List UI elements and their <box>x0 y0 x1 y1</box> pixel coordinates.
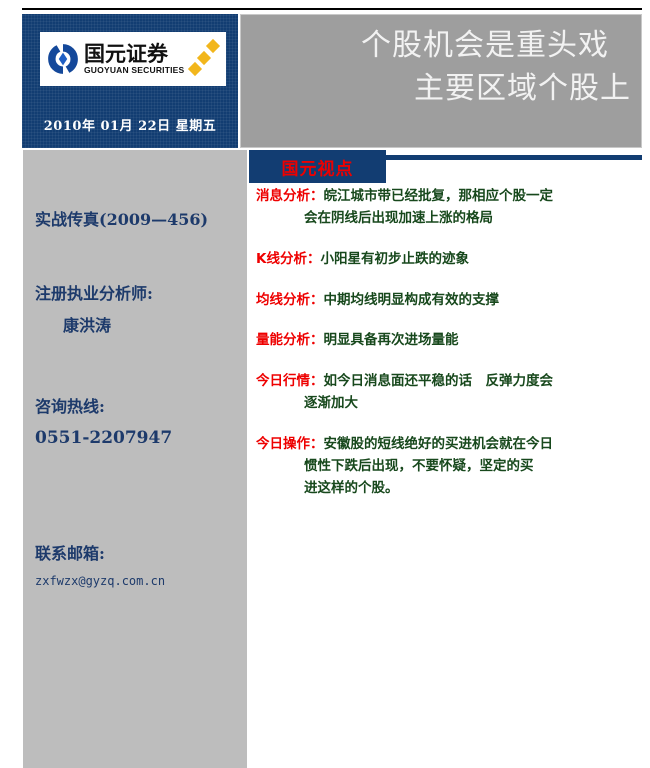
analysis-item-line: 今日操作：安徽股的短线绝好的买进机会就在今日 <box>256 434 646 456</box>
analysis-item-text: 如今日消息面还平稳的话 反弹力度会 <box>324 373 554 389</box>
sidebar-email-value[interactable]: zxfwzx@gyzq.com.cn <box>23 574 247 588</box>
analysis-item-label: 消息分析： <box>256 188 324 204</box>
page-title-line1: 个股机会是重头戏 <box>241 25 631 68</box>
top-divider <box>22 8 642 10</box>
header-brand-panel: 国元证券 GUOYUAN SECURITIES 2010年 01月 22日 星期… <box>22 14 240 148</box>
analysis-item-label: 量能分析： <box>256 332 324 348</box>
viewpoint-divider <box>386 155 642 160</box>
sidebar: 实战传真(2009—456) 注册执业分析师: 康洪涛 咨询热线: 0551-2… <box>23 150 247 768</box>
analysis-item-label: K线分析： <box>256 251 320 267</box>
guoyuan-circle-arrow-icon <box>46 42 80 76</box>
analysis-item-line: 均线分析：中期均线明显构成有效的支撑 <box>256 290 646 312</box>
analysis-item-line: 惯性下跌后出现，不要怀疑，坚定的买 <box>256 456 646 478</box>
analysis-item-line: 消息分析：皖江城市带已经批复，那相应个股一定 <box>256 186 646 208</box>
analysis-item-text: 逐渐加大 <box>304 395 358 411</box>
viewpoint-title: 国元视点 <box>249 154 386 179</box>
analysis-item-label: 均线分析： <box>256 292 324 308</box>
page-title: 个股机会是重头戏 主要区域个股上 <box>241 25 631 110</box>
sidebar-analyst-label: 注册执业分析师: <box>23 280 247 304</box>
sidebar-fax-number: 实战传真(2009—456) <box>23 206 247 230</box>
analysis-item-text: 安徽股的短线绝好的买进机会就在今日 <box>324 436 554 452</box>
analysis-item-text: 惯性下跌后出现，不要怀疑，坚定的买 <box>304 458 534 474</box>
page-title-line2: 主要区域个股上 <box>241 68 631 111</box>
analysis-item: K线分析：小阳星有初步止跌的迹象 <box>256 249 646 271</box>
analysis-item-text: 会在阴线后出现加速上涨的格局 <box>304 210 493 226</box>
analysis-item: 消息分析：皖江城市带已经批复，那相应个股一定会在阴线后出现加速上涨的格局 <box>256 186 646 230</box>
logo-name-cn: 国元证券 <box>84 43 190 65</box>
analysis-item-line: 今日行情：如今日消息面还平稳的话 反弹力度会 <box>256 371 646 393</box>
publication-date: 2010年 01月 22日 星期五 <box>22 115 238 134</box>
analysis-item-line: 逐渐加大 <box>256 393 646 415</box>
analysis-list: 消息分析：皖江城市带已经批复，那相应个股一定会在阴线后出现加速上涨的格局K线分析… <box>256 186 646 519</box>
analysis-item-text: 中期均线明显构成有效的支撑 <box>324 292 500 308</box>
analysis-item-text: 进这样的个股。 <box>304 480 399 496</box>
analysis-item-label: 今日行情： <box>256 373 324 389</box>
sidebar-hotline-value: 0551-2207947 <box>23 428 247 448</box>
analysis-item-label: 今日操作： <box>256 436 324 452</box>
analysis-item-text: 小阳星有初步止跌的迹象 <box>320 251 469 267</box>
company-logo: 国元证券 GUOYUAN SECURITIES <box>40 32 226 86</box>
analysis-item-line: 会在阴线后出现加速上涨的格局 <box>256 208 646 230</box>
analysis-item-line: 量能分析：明显具备再次进场量能 <box>256 330 646 352</box>
analysis-item: 今日操作：安徽股的短线绝好的买进机会就在今日惯性下跌后出现，不要怀疑，坚定的买进… <box>256 434 646 500</box>
analysis-item-text: 明显具备再次进场量能 <box>324 332 459 348</box>
header-title-panel: 个股机会是重头戏 主要区域个股上 <box>240 14 642 148</box>
analysis-item-line: K线分析：小阳星有初步止跌的迹象 <box>256 249 646 271</box>
viewpoint-header-box: 国元视点 <box>249 150 386 183</box>
ascending-steps-icon <box>190 38 220 80</box>
sidebar-analyst-name: 康洪涛 <box>23 312 247 336</box>
logo-name-en: GUOYUAN SECURITIES <box>84 66 190 75</box>
analysis-item-text: 皖江城市带已经批复，那相应个股一定 <box>324 188 554 204</box>
sidebar-email-label: 联系邮箱: <box>23 540 247 564</box>
analysis-item-line: 进这样的个股。 <box>256 478 646 500</box>
analysis-item: 今日行情：如今日消息面还平稳的话 反弹力度会逐渐加大 <box>256 371 646 415</box>
analysis-item: 量能分析：明显具备再次进场量能 <box>256 330 646 352</box>
analysis-item: 均线分析：中期均线明显构成有效的支撑 <box>256 290 646 312</box>
sidebar-hotline-label: 咨询热线: <box>23 393 247 417</box>
